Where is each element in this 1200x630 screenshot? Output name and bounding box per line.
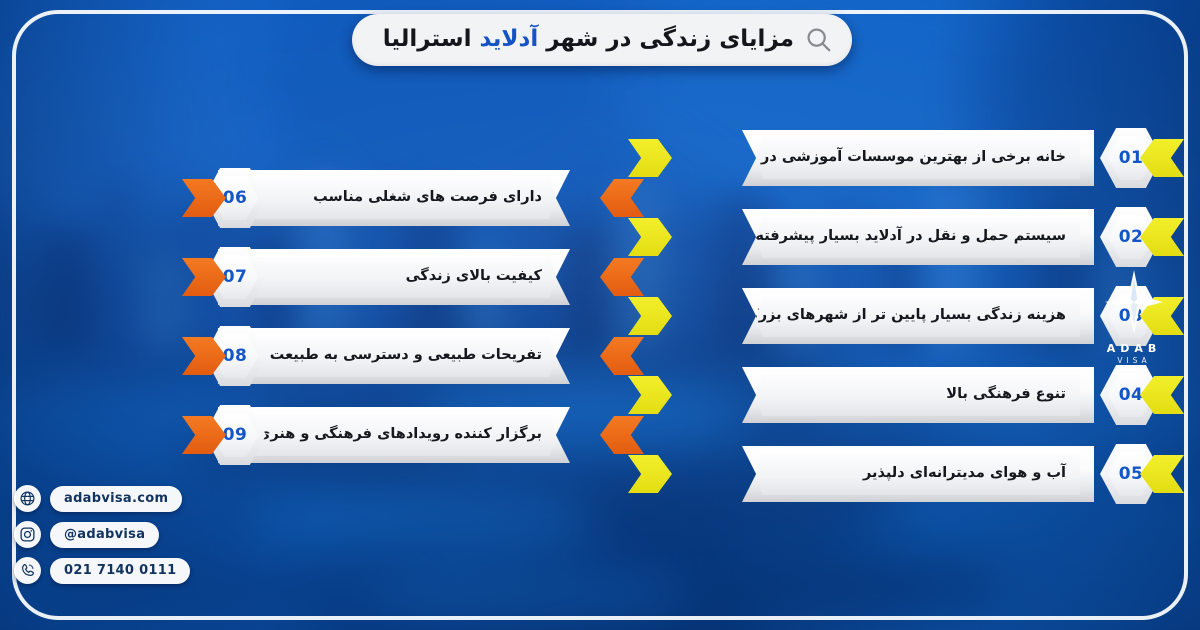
list-item-label: خانه برخی از بهترین موسسات آموزشی در است… [700, 150, 1066, 167]
number-badge-value: 02 [1119, 229, 1143, 246]
phone-pill[interactable]: 021 7140 0111 [50, 558, 190, 584]
row-bar-inner: هزینه زندگی بسیار پایین تر از شهرهای بزر… [756, 295, 1080, 337]
list-item[interactable]: تنوع فرهنگی بالا 04 [636, 367, 1180, 423]
row-bar-inner: سیستم حمل و نقل در آدلاید بسیار پیشرفته [756, 216, 1080, 258]
four-point-star-icon [1086, 268, 1182, 340]
row-bar: کیفیت بالای زندگی [218, 249, 570, 305]
list-item-label: هزینه زندگی بسیار پایین تر از شهرهای بزر… [744, 308, 1066, 325]
globe-icon [14, 485, 41, 512]
brand-logo: ADAB VISA [1086, 268, 1182, 365]
row-bar: سیستم حمل و نقل در آدلاید بسیار پیشرفته [742, 209, 1094, 265]
title-part-2: استرالیا [383, 26, 480, 52]
list-item[interactable]: کیفیت بالای زندگی 07 [186, 249, 636, 305]
website-value: adabvisa.com [64, 491, 168, 506]
row-bar-inner: کیفیت بالای زندگی [232, 256, 556, 298]
row-bar-inner: تنوع فرهنگی بالا [756, 374, 1080, 416]
list-item[interactable]: دارای فرصت های شغلی مناسب 06 [186, 170, 636, 226]
row-bar-inner: برگزار کننده رویدادهای فرهنگی و هنری متع… [232, 414, 556, 456]
instagram-pill[interactable]: @adabvisa [50, 522, 159, 548]
contact-block: adabvisa.com @adabvisa [14, 485, 190, 584]
title-part-1: مزایای زندگی در شهر [538, 26, 794, 52]
list-item-label: دارای فرصت های شغلی مناسب [313, 190, 542, 207]
contact-row-website[interactable]: adabvisa.com [14, 485, 190, 512]
list-item[interactable]: تفریحات طبیعی و دسترسی به طبیعت 08 [186, 328, 636, 384]
list-item-label: سیستم حمل و نقل در آدلاید بسیار پیشرفته [755, 229, 1066, 246]
phone-value: 021 7140 0111 [64, 563, 176, 578]
list-item[interactable]: سیستم حمل و نقل در آدلاید بسیار پیشرفته … [636, 209, 1180, 265]
contact-row-phone[interactable]: 021 7140 0111 [14, 557, 190, 584]
row-bar: تنوع فرهنگی بالا [742, 367, 1094, 423]
row-bar: خانه برخی از بهترین موسسات آموزشی در است… [742, 130, 1094, 186]
list-item[interactable]: خانه برخی از بهترین موسسات آموزشی در است… [636, 130, 1180, 186]
instagram-value: @adabvisa [64, 527, 145, 542]
search-icon [804, 25, 834, 55]
number-badge-value: 04 [1119, 387, 1143, 404]
row-bar: دارای فرصت های شغلی مناسب [218, 170, 570, 226]
contact-row-instagram[interactable]: @adabvisa [14, 521, 190, 548]
list-item-label: تنوع فرهنگی بالا [946, 387, 1066, 404]
number-badge-value: 01 [1119, 150, 1143, 167]
page-title: مزایای زندگی در شهر آدلاید استرالیا [366, 28, 794, 53]
instagram-icon [14, 521, 41, 548]
frame-mask-bottom [60, 604, 1140, 630]
number-badge-value: 07 [223, 269, 247, 286]
list-item-label: کیفیت بالای زندگی [406, 269, 542, 286]
number-badge-value: 09 [223, 427, 247, 444]
row-bar-inner: دارای فرصت های شغلی مناسب [232, 177, 556, 219]
number-badge-value: 05 [1119, 466, 1143, 483]
list-item-label: آب و هوای مدیترانه‌ای دلپذیر [863, 466, 1066, 483]
logo-subtitle: VISA [1086, 356, 1182, 365]
row-bar: هزینه زندگی بسیار پایین تر از شهرهای بزر… [742, 288, 1094, 344]
row-bar: تفریحات طبیعی و دسترسی به طبیعت [218, 328, 570, 384]
number-badge-value: 08 [223, 348, 247, 365]
list-item[interactable]: برگزار کننده رویدادهای فرهنگی و هنری متع… [186, 407, 636, 463]
number-badge-value: 06 [223, 190, 247, 207]
row-bar-inner: تفریحات طبیعی و دسترسی به طبیعت [232, 335, 556, 377]
row-bar: برگزار کننده رویدادهای فرهنگی و هنری متع… [218, 407, 570, 463]
title-bar: مزایای زندگی در شهر آدلاید استرالیا [352, 14, 852, 66]
list-item[interactable]: آب و هوای مدیترانه‌ای دلپذیر 05 [636, 446, 1180, 502]
row-bar: آب و هوای مدیترانه‌ای دلپذیر [742, 446, 1094, 502]
infographic-canvas: مزایای زندگی در شهر آدلاید استرالیا خانه… [0, 0, 1200, 630]
title-highlight: آدلاید [479, 26, 538, 52]
row-bar-inner: خانه برخی از بهترین موسسات آموزشی در است… [756, 137, 1080, 179]
phone-icon [14, 557, 41, 584]
list-item-label: تفریحات طبیعی و دسترسی به طبیعت [270, 348, 542, 365]
row-bar-inner: آب و هوای مدیترانه‌ای دلپذیر [756, 453, 1080, 495]
website-pill[interactable]: adabvisa.com [50, 486, 182, 512]
logo-name: ADAB [1086, 342, 1182, 355]
